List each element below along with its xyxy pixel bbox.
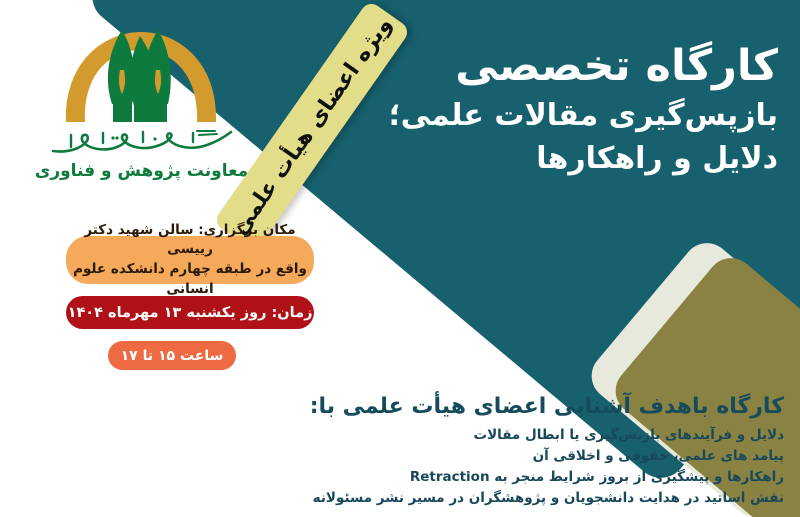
venue-line-2: واقع در طبقه چهارم دانشکده علوم انسانی (66, 260, 314, 299)
venue-badge: مکان برگزاری: سالن شهید دکتر رییسی واقع … (66, 236, 314, 284)
logo-mark-icon (34, 22, 249, 127)
logo-university-name-script (34, 129, 249, 159)
objectives-list: دلایل و فرآیندهای بازپس‌گیری یا ابطال مق… (224, 425, 784, 509)
logo-department-label: معاونت پژوهش و فناوری (34, 161, 249, 181)
list-item: نقش اساتید در هدایت دانشجویان و پژوهشگرا… (224, 488, 784, 509)
list-item: راهکارها و پیشگیری از بروز شرایط منجر به… (224, 467, 784, 488)
title-line-3: دلایل و راهکارها (358, 139, 778, 178)
list-item: پیامد های علمی، حقوقی و اخلاقی آن (224, 446, 784, 467)
title-line-1: کارگاه تخصصی (358, 42, 778, 90)
venue-line-1: مکان برگزاری: سالن شهید دکتر رییسی (66, 221, 314, 260)
university-logo: معاونت پژوهش و فناوری (34, 22, 249, 182)
workshop-objectives: کارگاه باهدف آشنایی اعضای هیأت علمی با: … (224, 394, 784, 509)
list-item: دلایل و فرآیندهای بازپس‌گیری یا ابطال مق… (224, 425, 784, 446)
objectives-heading: کارگاه باهدف آشنایی اعضای هیأت علمی با: (224, 394, 784, 419)
time-badge: ساعت ۱۵ تا ۱۷ (108, 341, 236, 370)
title-line-2: بازپس‌گیری مقالات علمی؛ (358, 96, 778, 135)
poster-canvas: معاونت پژوهش و فناوری ویژه اعضای هیأت عل… (0, 0, 800, 517)
date-badge: زمان: روز یکشنبه ۱۳ مهرماه ۱۴۰۴ (66, 296, 314, 329)
poster-title: کارگاه تخصصی بازپس‌گیری مقالات علمی؛ دلا… (358, 42, 778, 178)
